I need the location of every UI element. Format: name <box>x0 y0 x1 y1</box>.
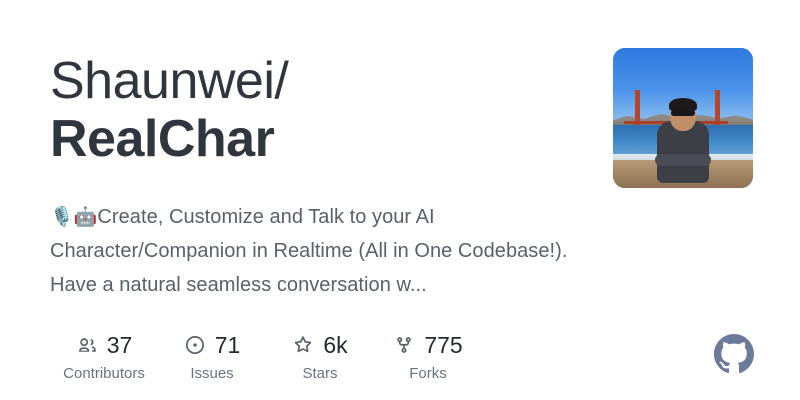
stat-contributors-value: 37 <box>107 334 133 357</box>
repository-name: RealChar <box>50 110 274 168</box>
stat-forks-top: 775 <box>393 330 462 360</box>
repository-social-card: Shaunwei/ RealChar 🎙️🤖Create, Customize … <box>0 0 800 400</box>
stat-contributors-top: 37 <box>76 330 133 360</box>
stat-issues-value: 71 <box>215 334 241 357</box>
stat-stars: 6k Stars <box>266 330 374 383</box>
stat-stars-top: 6k <box>292 330 347 360</box>
stat-forks: 775 Forks <box>374 330 482 383</box>
stat-issues-top: 71 <box>184 330 241 360</box>
people-icon <box>76 334 98 356</box>
repository-description: 🎙️🤖Create, Customize and Talk to your AI… <box>50 200 575 302</box>
issue-opened-icon <box>184 334 206 356</box>
description-text: Create, Customize and Talk to your AI Ch… <box>50 206 567 296</box>
avatar-person-arms <box>655 154 711 166</box>
stat-stars-label: Stars <box>302 365 337 383</box>
star-icon <box>292 334 314 356</box>
github-mark-icon <box>714 334 754 374</box>
stat-forks-label: Forks <box>409 365 447 383</box>
repository-stats: 37 Contributors 71 Issues <box>50 330 482 383</box>
repository-name-line: RealChar <box>50 110 590 168</box>
stat-contributors-label: Contributors <box>63 365 145 383</box>
description-emoji: 🎙️🤖 <box>50 206 97 228</box>
stat-issues-label: Issues <box>190 365 233 383</box>
repository-owner: Shaunwei/ <box>50 52 288 110</box>
avatar-person-sunglasses <box>671 110 695 116</box>
repository-title: Shaunwei/ RealChar <box>50 52 590 168</box>
repository-owner-line: Shaunwei/ <box>50 52 590 110</box>
owner-avatar <box>613 48 753 188</box>
stat-stars-value: 6k <box>323 334 347 357</box>
stat-contributors: 37 Contributors <box>50 330 158 383</box>
repo-forked-icon <box>393 334 415 356</box>
stat-forks-value: 775 <box>424 334 462 357</box>
stat-issues: 71 Issues <box>158 330 266 383</box>
